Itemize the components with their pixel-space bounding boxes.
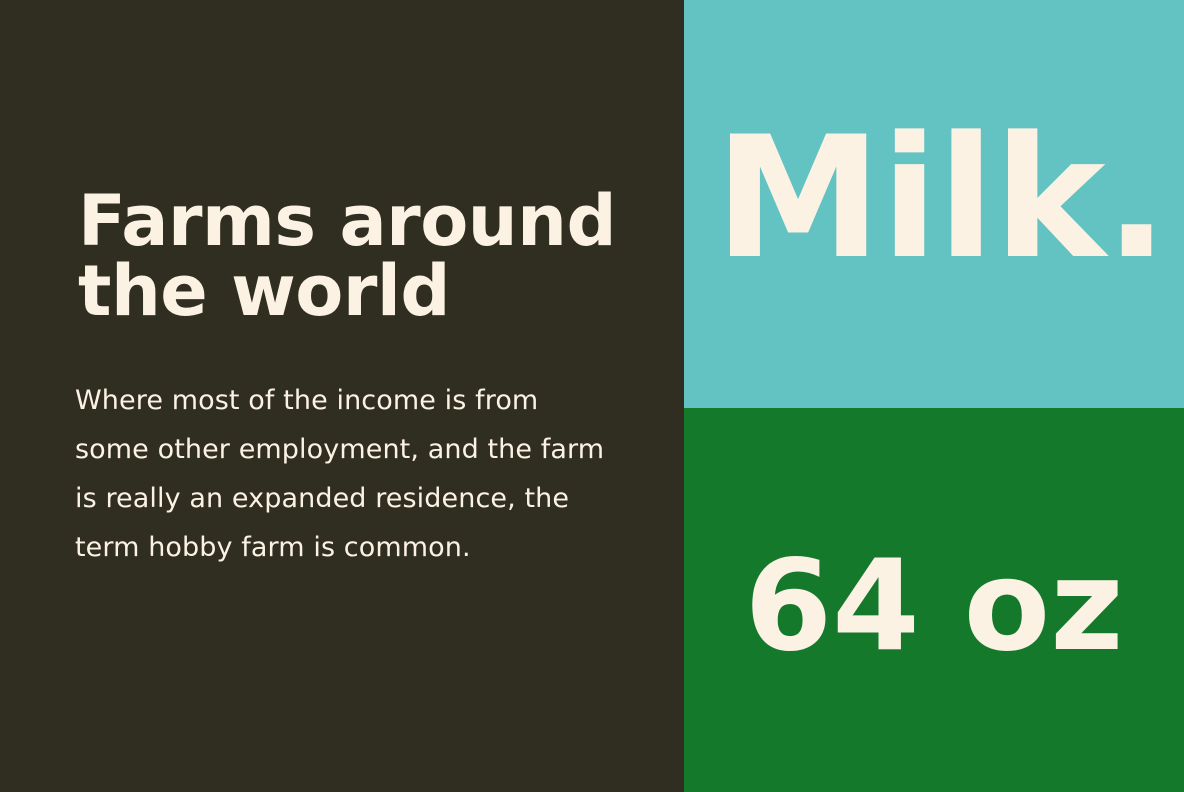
product-size-label: 64 oz <box>744 543 1123 669</box>
right-color-blocks: Milk. 64 oz <box>684 0 1184 792</box>
product-name-block: Milk. <box>684 0 1184 408</box>
left-content-panel: Farms around the world Where most of the… <box>0 0 684 792</box>
page-title: Farms around the world <box>78 186 638 326</box>
poster-canvas: Farms around the world Where most of the… <box>0 0 1184 792</box>
body-paragraph: Where most of the income is from some ot… <box>75 376 620 572</box>
product-name-label: Milk. <box>701 114 1168 282</box>
product-size-block: 64 oz <box>684 408 1184 792</box>
